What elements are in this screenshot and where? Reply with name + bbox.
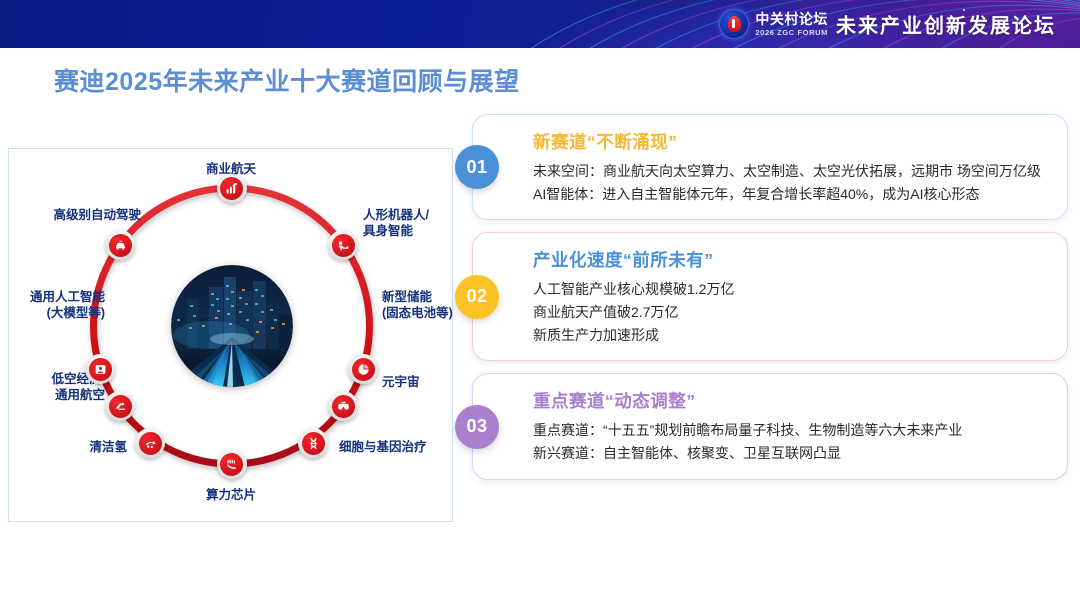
node-label-metaverse: 元宇宙 (382, 374, 420, 390)
center-city-photo (171, 265, 293, 387)
circular-ring-diagram: 商业航天 人形机器人/具身智能 新型储能(固态电池等) (9, 149, 454, 523)
card-number-badge-03: 03 (455, 405, 499, 449)
card-line: 人工智能产业核心规模破1.2万亿 (533, 278, 1049, 301)
cpu-chip-icon (220, 453, 243, 476)
node-label-humanoid-robot: 人形机器人/具身智能 (363, 207, 429, 239)
insight-card-01[interactable]: 01 新赛道“不断涌现” 未来空间：商业航天向太空算力、太空制造、太空光伏拓展，… (472, 114, 1068, 220)
dna-cell-icon (302, 432, 325, 455)
insight-card-03[interactable]: 03 重点赛道“动态调整” 重点赛道：“十五五”规划前瞻布局量子科技、生物制造等… (472, 373, 1068, 479)
node-clean-hydrogen[interactable] (135, 428, 165, 458)
card-line: 重点赛道：“十五五”规划前瞻布局量子科技、生物制造等六大未来产业 (533, 419, 1049, 442)
hydrogen-molecule-icon (139, 432, 162, 455)
zgc-logo-mark-icon (719, 9, 749, 39)
node-agi[interactable] (85, 354, 115, 384)
humanoid-robot-icon (332, 234, 355, 257)
node-label-cell-gene-therapy: 细胞与基因治疗 (339, 439, 427, 455)
battery-storage-icon (352, 358, 375, 381)
vr-headset-icon (332, 395, 355, 418)
card-line: 未来空间：商业航天向太空算力、太空制造、太空光伏拓展，远期市 场空间万亿级 (533, 160, 1049, 183)
node-metaverse[interactable] (328, 391, 358, 421)
ten-tracks-diagram-panel: 商业航天 人形机器人/具身智能 新型储能(固态电池等) (8, 148, 453, 522)
rocket-chart-icon (220, 177, 243, 200)
insight-card-02[interactable]: 02 产业化速度“前所未有” 人工智能产业核心规模破1.2万亿 商业航天产值破2… (472, 232, 1068, 361)
card-line: 新质生产力加速形成 (533, 324, 1049, 347)
card-number-badge-02: 02 (455, 275, 499, 319)
card-heading-01: 新赛道“不断涌现” (533, 129, 1049, 154)
card-line: 新兴赛道：自主智能体、核聚变、卫星互联网凸显 (533, 442, 1049, 465)
node-label-computing-chip: 算力芯片 (206, 487, 256, 503)
card-line: AI智能体：进入自主智能体元年，年复合增长率超40%，成为AI核心形态 (533, 183, 1049, 206)
night-city-lighttrail-illustration (171, 265, 293, 387)
card-body-01: 未来空间：商业航天向太空算力、太空制造、太空光伏拓展，远期市 场空间万亿级 AI… (533, 160, 1049, 205)
node-low-altitude-economy[interactable] (105, 391, 135, 421)
zgc-forum-logo: 中关村论坛 2026 ZGC FORUM (719, 9, 828, 39)
node-label-clean-hydrogen: 清洁氢 (89, 439, 127, 455)
node-computing-chip[interactable] (217, 449, 247, 479)
forum-title: 未来产业创新发展论坛 (836, 10, 1056, 39)
node-label-autonomous-driving: 高级别自动驾驶 (53, 207, 141, 223)
card-heading-02: 产业化速度“前所未有” (533, 247, 1049, 272)
node-label-agi: 通用人工智能(大模型等) (30, 289, 105, 321)
node-humanoid-robot[interactable] (328, 230, 358, 260)
card-number-badge-01: 01 (455, 145, 499, 189)
card-body-03: 重点赛道：“十五五”规划前瞻布局量子科技、生物制造等六大未来产业 新兴赛道：自主… (533, 419, 1049, 464)
insight-cards: 01 新赛道“不断涌现” 未来空间：商业航天向太空算力、太空制造、太空光伏拓展，… (472, 114, 1068, 492)
page-title: 赛迪2025年未来产业十大赛道回顾与展望 (54, 62, 520, 98)
node-new-energy-storage[interactable] (348, 354, 378, 384)
card-body-02: 人工智能产业核心规模破1.2万亿 商业航天产值破2.7万亿 新质生产力加速形成 (533, 278, 1049, 346)
node-label-new-energy-storage: 新型储能(固态电池等) (382, 289, 453, 321)
card-heading-03: 重点赛道“动态调整” (533, 388, 1049, 413)
card-line: 商业航天产值破2.7万亿 (533, 301, 1049, 324)
logo-english-name: 2026 ZGC FORUM (755, 29, 828, 37)
autonomous-car-icon (109, 234, 132, 257)
logo-chinese-name: 中关村论坛 (755, 12, 828, 26)
ai-brain-person-icon (89, 358, 112, 381)
node-cell-gene-therapy[interactable] (298, 428, 328, 458)
node-autonomous-driving[interactable] (105, 230, 135, 260)
node-commercial-aerospace[interactable] (217, 173, 247, 203)
node-label-commercial-aerospace: 商业航天 (206, 161, 256, 177)
drone-aircraft-icon (109, 395, 132, 418)
page-header: 中关村论坛 2026 ZGC FORUM 未来产业创新发展论坛 (0, 0, 1080, 48)
